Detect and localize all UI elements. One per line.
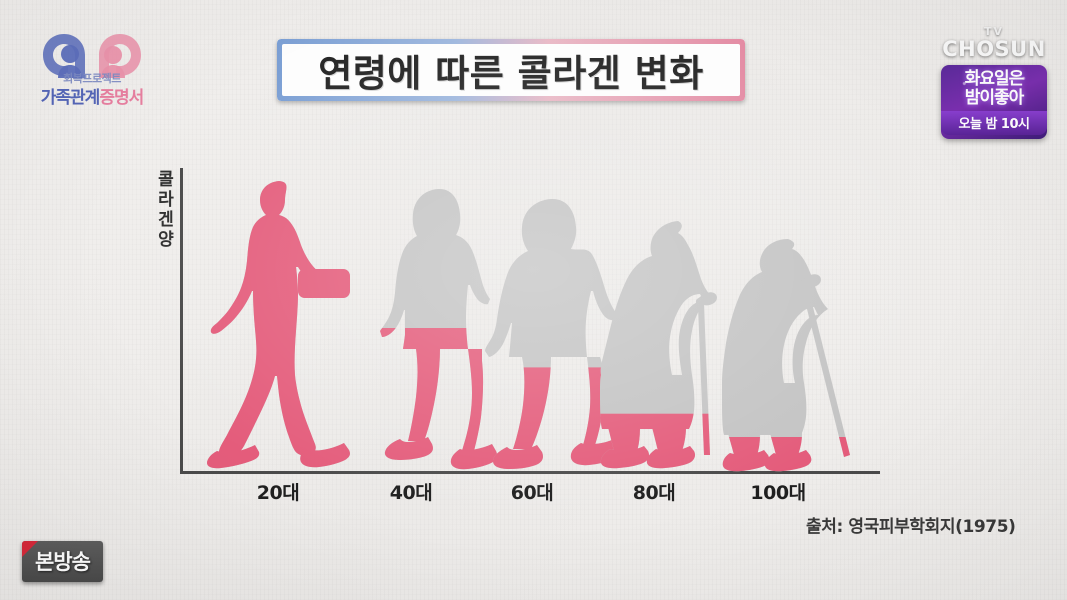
figure-20s bbox=[205, 173, 365, 473]
program-logo: 회복프로젝트 가족관계증명서 bbox=[34, 28, 150, 110]
y-axis-label-char-0: 콜 bbox=[154, 170, 178, 190]
promo-line-2: 밤이좋아 bbox=[941, 89, 1047, 108]
x-tick-label-20s: 20대 bbox=[218, 478, 338, 505]
x-tick-label-60s: 60대 bbox=[472, 478, 592, 505]
channel-bug: TV CHOSUN 화요일은 밤이좋아 오늘 밤 10시 bbox=[933, 26, 1055, 139]
live-badge-label: 본방송 bbox=[35, 546, 90, 576]
source-note: 출처: 영국피부학회지(1975) bbox=[806, 512, 1016, 537]
promo-time-label: 오늘 밤 10시 bbox=[941, 111, 1047, 135]
program-logo-title-blue: 가족관계 bbox=[41, 88, 100, 108]
y-axis-label: 콜 라 겐 양 bbox=[154, 170, 178, 250]
y-axis-label-char-3: 양 bbox=[154, 230, 178, 250]
program-logo-title: 가족관계증명서 bbox=[34, 83, 150, 108]
figure-20s-body bbox=[205, 173, 365, 473]
figure-100s bbox=[722, 233, 872, 473]
y-axis-line bbox=[180, 168, 183, 474]
y-axis-label-char-2: 겐 bbox=[154, 210, 178, 230]
x-tick-label-80s: 80대 bbox=[594, 478, 714, 505]
promo-badge: 화요일은 밤이좋아 오늘 밤 10시 bbox=[941, 65, 1047, 139]
figure-20s-silhouette bbox=[205, 173, 365, 473]
promo-line-1: 화요일은 bbox=[941, 70, 1047, 89]
figure-100s-body bbox=[722, 233, 872, 473]
x-tick-label-40s: 40대 bbox=[351, 478, 471, 505]
figure-100s-silhouette bbox=[722, 233, 872, 473]
live-broadcast-badge: 본방송 bbox=[22, 541, 103, 582]
collagen-age-chart: 콜 라 겐 양 bbox=[0, 0, 1067, 600]
live-badge-corner-accent bbox=[22, 541, 38, 557]
program-logo-title-pink: 증명서 bbox=[99, 88, 143, 108]
channel-name-label: CHOSUN bbox=[933, 38, 1055, 61]
x-tick-label-100s: 100대 bbox=[718, 478, 838, 505]
y-axis-label-char-1: 라 bbox=[154, 190, 178, 210]
broadcast-graphic-screen: 연령에 따른 콜라겐 변화 콜 라 겐 양 bbox=[0, 0, 1067, 600]
